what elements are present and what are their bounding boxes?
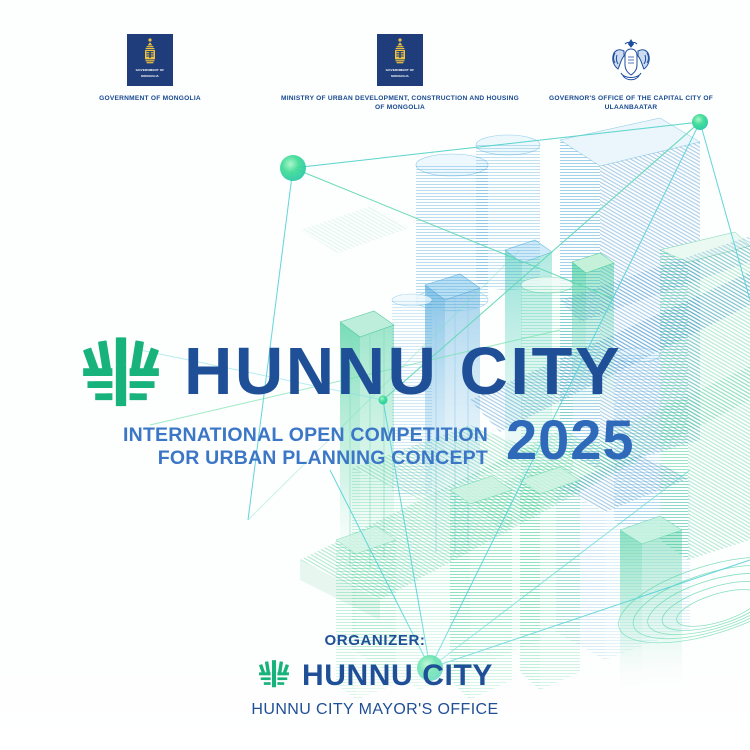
- logo-caption-governors-office: GOVERNOR'S OFFICE OF THE CAPITAL CITY OF…: [526, 95, 736, 113]
- main-title-block: HUNNU CITY INTERNATIONAL OPEN COMPETITIO…: [0, 325, 750, 471]
- header-logo-bar: GOVERNMENT OF MONGOLIA GOVERNMENT OF MON…: [0, 34, 750, 113]
- organizer-office: HUNNU CITY MAYOR'S OFFICE: [251, 701, 498, 719]
- ulaanbaatar-city-crest-icon: [604, 34, 658, 86]
- page-title: HUNNU CITY: [184, 341, 622, 403]
- emblem-inner-text-line2: MONGOLIA: [391, 75, 409, 79]
- logo-ministry-urban-development: GOVERNMENT OF MONGOLIA MINISTRY OF URBAN…: [280, 34, 520, 113]
- subtitle-line-1: INTERNATIONAL OPEN COMPETITION: [76, 424, 488, 447]
- logo-governors-office-ulaanbaatar: GOVERNOR'S OFFICE OF THE CAPITAL CITY OF…: [526, 34, 736, 113]
- emblem-inner-text-line1: GOVERNMENT OF: [136, 69, 165, 73]
- subtitle-row: INTERNATIONAL OPEN COMPETITION FOR URBAN…: [0, 424, 750, 471]
- emblem-inner-text-line1: GOVERNMENT OF: [386, 69, 415, 73]
- hunnu-tree-mark-icon: [257, 656, 291, 695]
- organizer-wordmark: HUNNU CITY: [302, 661, 493, 691]
- organizer-block: ORGANIZER:: [0, 632, 750, 719]
- wordmark-row: HUNNU CITY: [0, 325, 750, 418]
- organizer-label: ORGANIZER:: [325, 632, 426, 649]
- subtitle-line-2: FOR URBAN PLANNING CONCEPT: [76, 447, 488, 470]
- year-label: 2025: [506, 418, 635, 462]
- organizer-logo: HUNNU CITY: [257, 656, 493, 695]
- logo-caption-ministry: MINISTRY OF URBAN DEVELOPMENT, CONSTRUCT…: [280, 95, 520, 113]
- poster-canvas: GOVERNMENT OF MONGOLIA GOVERNMENT OF MON…: [0, 0, 750, 750]
- subtitle: INTERNATIONAL OPEN COMPETITION FOR URBAN…: [76, 424, 488, 471]
- logo-government-of-mongolia: GOVERNMENT OF MONGOLIA GOVERNMENT OF MON…: [40, 34, 260, 104]
- hunnu-tree-mark-icon: [78, 327, 164, 418]
- mongolia-state-emblem-icon: GOVERNMENT OF MONGOLIA: [377, 34, 423, 86]
- mongolia-state-emblem-icon: GOVERNMENT OF MONGOLIA: [127, 34, 173, 86]
- logo-caption-government: GOVERNMENT OF MONGOLIA: [99, 95, 201, 104]
- emblem-inner-text-line2: MONGOLIA: [141, 75, 159, 79]
